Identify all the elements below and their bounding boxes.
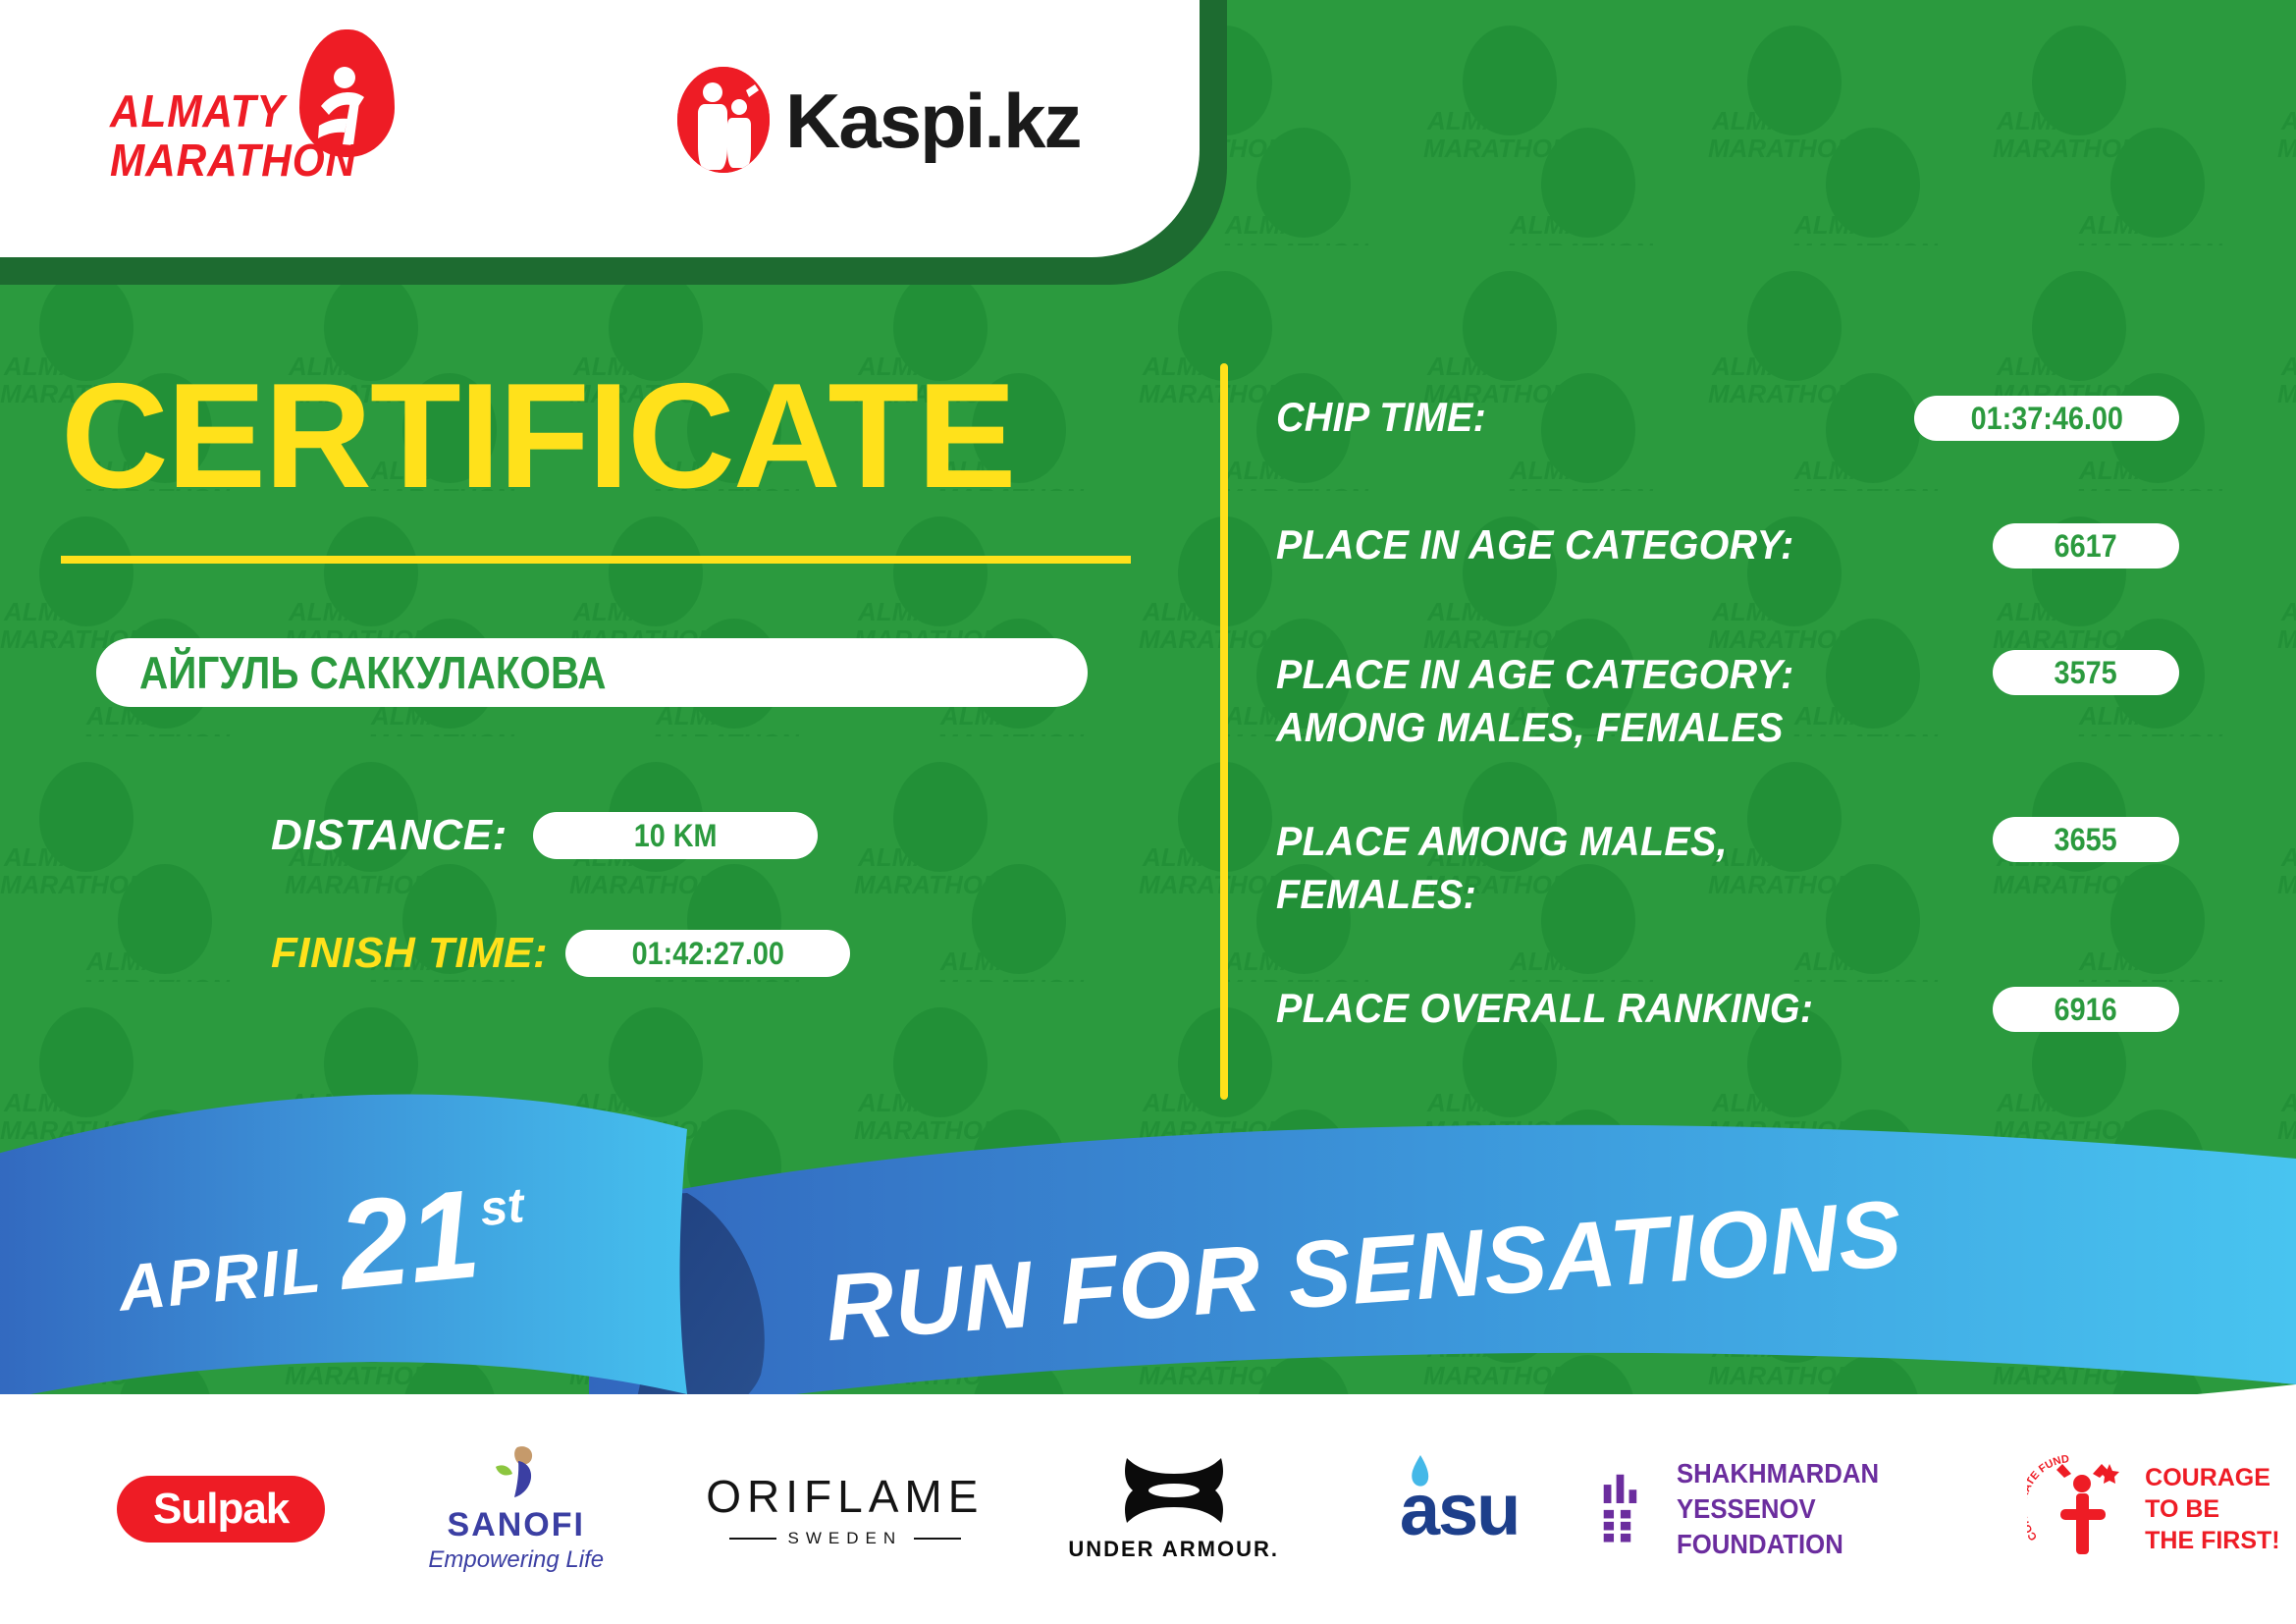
vertical-divider — [1220, 363, 1228, 1100]
asu-droplet-icon — [1407, 1453, 1432, 1494]
oriflame-label: ORIFLAME — [706, 1470, 984, 1523]
place-age-category-value: 6617 — [2055, 528, 2117, 565]
stat-row-place-among-males-females: PLACE AMONG MALES, FEMALES: 3655 — [1276, 815, 2179, 921]
sulpak-logo-icon: Sulpak — [117, 1476, 325, 1543]
place-among-males-females-pill: 3655 — [1993, 817, 2179, 862]
place-overall-ranking-value: 6916 — [2055, 992, 2117, 1028]
sponsor-asu: asu — [1336, 1435, 1583, 1583]
under-armour-logo-icon — [1117, 1456, 1231, 1529]
sponsor-sulpak: Sulpak — [79, 1435, 363, 1583]
place-overall-ranking-pill: 6916 — [1993, 987, 2179, 1032]
place-overall-ranking-label: PLACE OVERALL RANKING: — [1276, 982, 1949, 1035]
oriflame-rule-right — [914, 1538, 961, 1540]
oriflame-rule-left — [729, 1538, 776, 1540]
event-ribbon: APRIL 21 st RUN FOR SENSATIONS — [0, 1060, 2296, 1443]
sponsor-under-armour: UNDER ARMOUR. — [1032, 1435, 1316, 1583]
distance-row: DISTANCE: 10 KM — [271, 811, 818, 860]
yessenov-foundation-logo-icon — [1602, 1467, 1654, 1551]
header-logos: ALMATY MARATHON Kaspi.kz — [0, 0, 1200, 257]
certificate-page: ALMATY MARATHON ALMATY MARATHON — [0, 0, 2296, 1624]
chip-time-pill: 01:37:46.00 — [1914, 396, 2179, 441]
place-age-category-pill: 6617 — [1993, 523, 2179, 568]
sanofi-tagline: Empowering Life — [428, 1546, 604, 1574]
place-age-category-among-label: PLACE IN AGE CATEGORY: AMONG MALES, FEMA… — [1276, 648, 1949, 754]
event-day: 21 — [334, 1171, 485, 1310]
event-day-suffix: st — [477, 1176, 526, 1237]
athlete-name-value: АЙГУЛЬ САККУЛАКОВА — [139, 646, 606, 699]
kaspi-logo: Kaspi.kz — [677, 59, 1070, 187]
courage-fund-label: COURAGE TO BE THE FIRST! — [2145, 1462, 2280, 1556]
courage-fund-logo-icon: CORPORATE FUND — [2027, 1450, 2135, 1568]
sponsor-oriflame: ORIFLAME SWEDEN — [688, 1435, 1001, 1583]
distance-value: 10 KM — [633, 818, 717, 854]
sponsor-courage-fund: CORPORATE FUND COURAGE TO BE THE FIRST! — [2011, 1435, 2296, 1583]
event-month: APRIL — [115, 1231, 325, 1326]
kaspi-person-icon — [677, 67, 770, 173]
almaty-marathon-logo: ALMATY MARATHON — [110, 51, 424, 198]
distance-label: DISTANCE: — [271, 811, 507, 860]
oriflame-sub-row: SWEDEN — [729, 1529, 962, 1548]
oriflame-sub-label: SWEDEN — [788, 1529, 903, 1548]
sponsor-bar: Sulpak SANOFI Empowering Life ORIFLAME S… — [0, 1394, 2296, 1624]
place-age-category-among-value: 3575 — [2055, 655, 2117, 691]
sanofi-logo-icon — [486, 1445, 547, 1502]
sponsor-sanofi: SANOFI Empowering Life — [383, 1435, 649, 1583]
place-age-category-label: PLACE IN AGE CATEGORY: — [1276, 518, 1949, 571]
almaty-marathon-wordmark: ALMATY MARATHON — [110, 86, 356, 185]
sulpak-label: Sulpak — [153, 1485, 289, 1534]
kaspi-wordmark: Kaspi.kz — [785, 77, 1080, 166]
chip-time-label: CHIP TIME: — [1276, 391, 1876, 444]
place-among-males-females-value: 3655 — [2055, 822, 2117, 858]
sanofi-label: SANOFI — [448, 1506, 585, 1544]
place-age-category-among-pill: 3575 — [1993, 650, 2179, 695]
yessenov-foundation-label: SHAKHMARDAN YESSENOV FOUNDATION — [1677, 1456, 1976, 1562]
distance-pill: 10 KM — [533, 812, 818, 859]
stat-row-place-overall-ranking: PLACE OVERALL RANKING: 6916 — [1276, 982, 2179, 1035]
finish-time-label: FINISH TIME: — [271, 929, 548, 978]
finish-time-pill: 01:42:27.00 — [565, 930, 850, 977]
finish-time-value: 01:42:27.00 — [632, 936, 784, 972]
chip-time-value: 01:37:46.00 — [1970, 401, 2122, 437]
page-title: CERTIFICATE — [61, 361, 1015, 511]
sponsor-yessenov-foundation: SHAKHMARDAN YESSENOV FOUNDATION — [1602, 1435, 2001, 1583]
athlete-name-field: АЙГУЛЬ САККУЛАКОВА — [96, 638, 1088, 707]
stat-row-place-age-category-among: PLACE IN AGE CATEGORY: AMONG MALES, FEMA… — [1276, 648, 2179, 754]
stat-row-chip-time: CHIP TIME: 01:37:46.00 — [1276, 391, 2179, 444]
finish-time-row: FINISH TIME: 01:42:27.00 — [271, 929, 850, 978]
place-among-males-females-label: PLACE AMONG MALES, FEMALES: — [1276, 815, 1949, 921]
under-armour-label: UNDER ARMOUR. — [1068, 1537, 1279, 1562]
title-underline — [61, 556, 1131, 564]
stat-row-place-age-category: PLACE IN AGE CATEGORY: 6617 — [1276, 518, 2179, 571]
